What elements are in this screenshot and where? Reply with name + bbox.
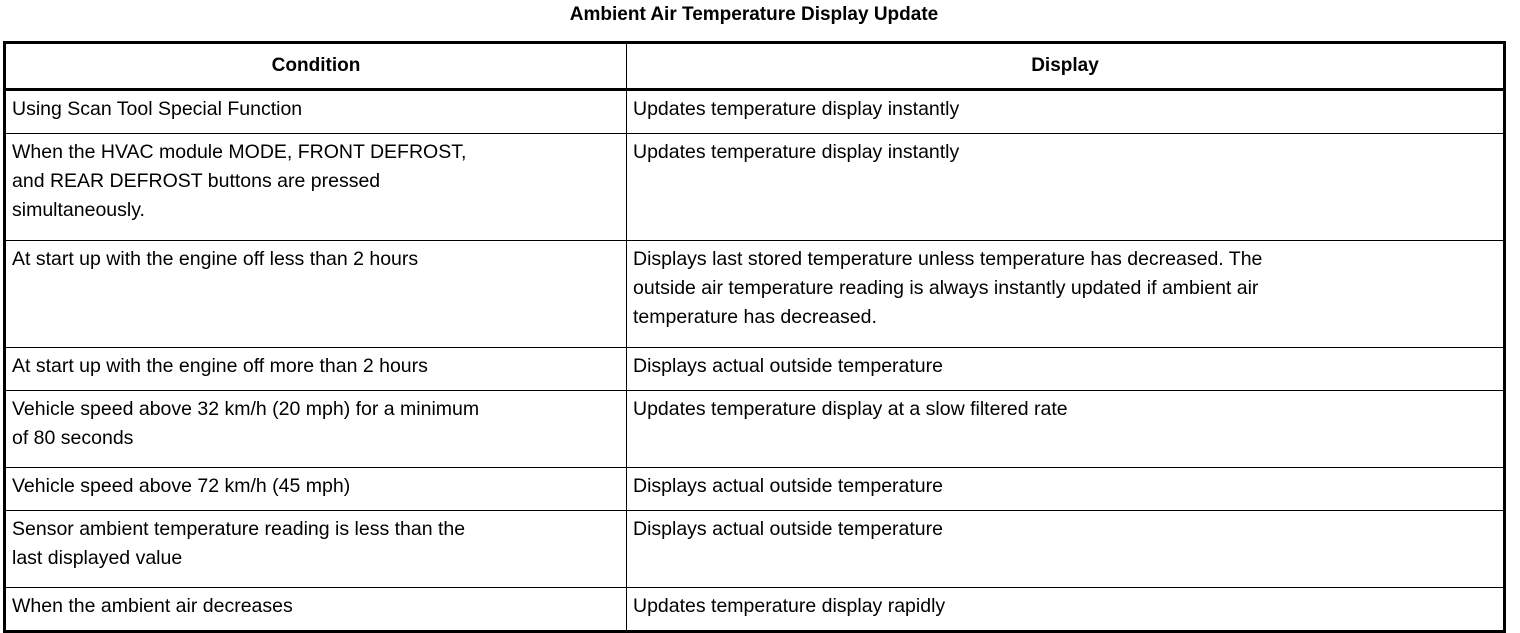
cell-condition: Vehicle speed above 32 km/h (20 mph) for… (5, 391, 627, 468)
column-header-display: Display (627, 43, 1505, 90)
table-row: Vehicle speed above 72 km/h (45 mph) Dis… (5, 468, 1505, 511)
table-header: Condition Display (5, 43, 1505, 90)
condition-line: simultaneously. (12, 196, 620, 225)
cell-condition: At start up with the engine off more tha… (5, 348, 627, 391)
spec-table-container: Condition Display Using Scan Tool Specia… (3, 41, 1503, 633)
display-line: temperature has decreased. (633, 303, 1497, 332)
table-row: Sensor ambient temperature reading is le… (5, 511, 1505, 588)
cell-display: Displays last stored temperature unless … (627, 241, 1505, 348)
display-line: Displays last stored temperature unless … (633, 245, 1497, 274)
display-line: outside air temperature reading is alway… (633, 274, 1497, 303)
table-header-row: Condition Display (5, 43, 1505, 90)
table-row: Vehicle speed above 32 km/h (20 mph) for… (5, 391, 1505, 468)
cell-display: Updates temperature display rapidly (627, 588, 1505, 632)
condition-line: last displayed value (12, 544, 620, 573)
condition-line: Vehicle speed above 72 km/h (45 mph) (12, 472, 620, 501)
cell-display: Updates temperature display instantly (627, 134, 1505, 241)
ambient-air-temperature-table: Condition Display Using Scan Tool Specia… (3, 41, 1506, 633)
column-header-condition: Condition (5, 43, 627, 90)
condition-line: of 80 seconds (12, 424, 620, 453)
condition-line: When the ambient air decreases (12, 592, 620, 621)
condition-line: At start up with the engine off more tha… (12, 352, 620, 381)
condition-line: At start up with the engine off less tha… (12, 245, 620, 274)
condition-line: and REAR DEFROST buttons are pressed (12, 167, 620, 196)
cell-condition: Vehicle speed above 72 km/h (45 mph) (5, 468, 627, 511)
condition-line: When the HVAC module MODE, FRONT DEFROST… (12, 138, 620, 167)
table-row: When the ambient air decreases Updates t… (5, 588, 1505, 632)
display-line: Displays actual outside temperature (633, 515, 1497, 544)
cell-display: Updates temperature display instantly (627, 90, 1505, 134)
cell-condition: When the HVAC module MODE, FRONT DEFROST… (5, 134, 627, 241)
cell-condition: Sensor ambient temperature reading is le… (5, 511, 627, 588)
cell-condition: At start up with the engine off less tha… (5, 241, 627, 348)
cell-condition: When the ambient air decreases (5, 588, 627, 632)
document-page: Ambient Air Temperature Display Update C… (0, 0, 1520, 612)
table-body: Using Scan Tool Special Function Updates… (5, 90, 1505, 632)
cell-display: Updates temperature display at a slow fi… (627, 391, 1505, 468)
cell-display: Displays actual outside temperature (627, 468, 1505, 511)
cell-condition: Using Scan Tool Special Function (5, 90, 627, 134)
page-title: Ambient Air Temperature Display Update (0, 2, 1508, 28)
table-row: When the HVAC module MODE, FRONT DEFROST… (5, 134, 1505, 241)
condition-line: Vehicle speed above 32 km/h (20 mph) for… (12, 395, 620, 424)
table-row: At start up with the engine off more tha… (5, 348, 1505, 391)
condition-line: Sensor ambient temperature reading is le… (12, 515, 620, 544)
cell-display: Displays actual outside temperature (627, 511, 1505, 588)
display-line: Updates temperature display instantly (633, 138, 1497, 167)
display-line: Displays actual outside temperature (633, 352, 1497, 381)
table-row: Using Scan Tool Special Function Updates… (5, 90, 1505, 134)
display-line: Displays actual outside temperature (633, 472, 1497, 501)
table-row: At start up with the engine off less tha… (5, 241, 1505, 348)
cell-display: Displays actual outside temperature (627, 348, 1505, 391)
display-line: Updates temperature display at a slow fi… (633, 395, 1497, 424)
display-line: Updates temperature display rapidly (633, 592, 1497, 621)
condition-line: Using Scan Tool Special Function (12, 95, 620, 124)
display-line: Updates temperature display instantly (633, 95, 1497, 124)
